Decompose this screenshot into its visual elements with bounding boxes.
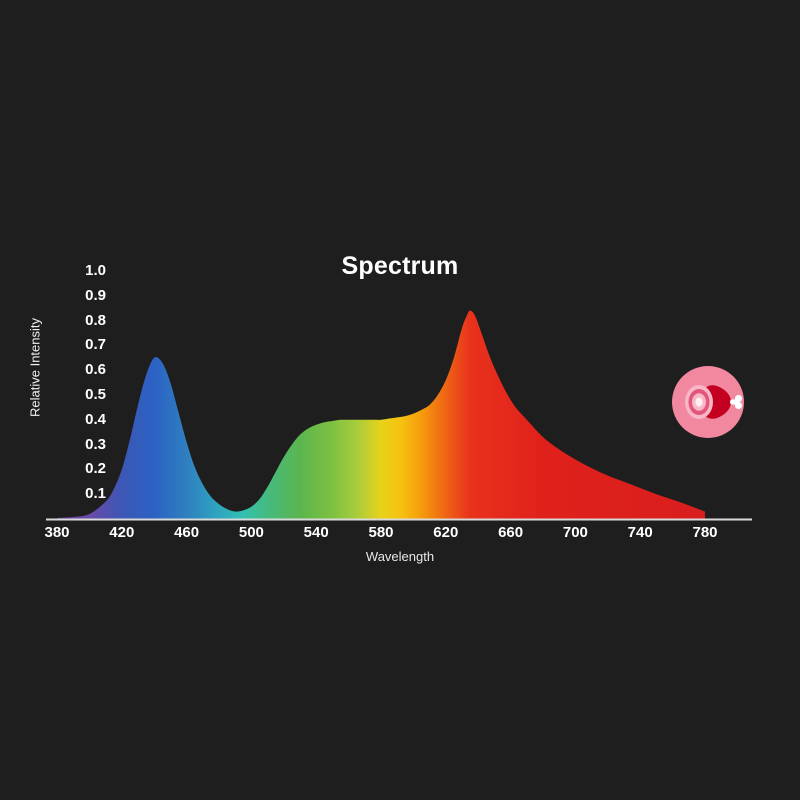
spectrum-area-curve — [57, 311, 705, 519]
ham-icon[interactable] — [669, 363, 747, 441]
ham-icon-ring-core — [695, 397, 702, 406]
spectrum-chart-page: Spectrum Relative Intensity Wavelength 0… — [0, 0, 800, 800]
